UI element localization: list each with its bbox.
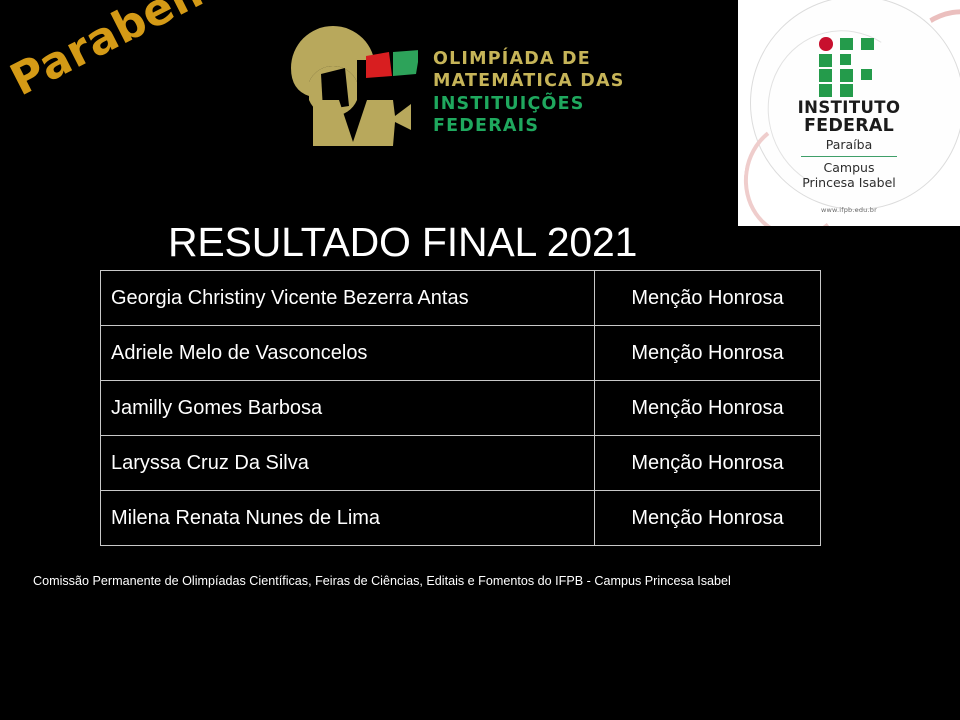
footer-committee-text: Comissão Permanente de Olimpíadas Cientí… (33, 574, 731, 588)
participant-name: Adriele Melo de Vasconcelos (101, 326, 595, 381)
results-table-body: Georgia Christiny Vicente Bezerra Antas … (101, 271, 821, 546)
omif-logo: OLIMPÍADA DE MATEMÁTICA DAS INSTITUIÇÕES… (283, 18, 683, 148)
ifpb-instituto-label: INSTITUTO (738, 100, 960, 117)
ifpb-federal-label: FEDERAL (738, 117, 960, 135)
table-row: Georgia Christiny Vicente Bezerra Antas … (101, 271, 821, 326)
participant-award: Menção Honrosa (595, 271, 821, 326)
omif-logo-mark (283, 24, 418, 149)
ifpb-logo-typography: INSTITUTO FEDERAL Paraíba Campus Princes… (738, 100, 960, 214)
participant-award: Menção Honrosa (595, 326, 821, 381)
omif-line-3: INSTITUIÇÕES FEDERAIS (433, 93, 683, 138)
omif-line-2: MATEMÁTICA DAS (433, 70, 683, 92)
ifpb-state-label: Paraíba (738, 137, 960, 152)
participant-name: Milena Renata Nunes de Lima (101, 491, 595, 546)
table-row: Adriele Melo de Vasconcelos Menção Honro… (101, 326, 821, 381)
ifpb-if-mark-icon (819, 37, 877, 96)
omif-line-1: OLIMPÍADA DE (433, 48, 683, 70)
participant-name: Jamilly Gomes Barbosa (101, 381, 595, 436)
ifpb-website-url: www.ifpb.edu.br (738, 206, 960, 214)
presentation-slide: Parabéns!!! OLIMPÍADA DE MATEMÁTICA DAS … (0, 0, 960, 720)
participant-name: Georgia Christiny Vicente Bezerra Antas (101, 271, 595, 326)
ifpb-divider (801, 156, 897, 157)
ifpb-logo: INSTITUTO FEDERAL Paraíba Campus Princes… (738, 0, 960, 226)
participant-award: Menção Honrosa (595, 381, 821, 436)
table-row: Jamilly Gomes Barbosa Menção Honrosa (101, 381, 821, 436)
participant-award: Menção Honrosa (595, 491, 821, 546)
table-row: Milena Renata Nunes de Lima Menção Honro… (101, 491, 821, 546)
participant-name: Laryssa Cruz Da Silva (101, 436, 595, 491)
ifpb-campus-label: Campus (738, 161, 960, 176)
omif-logo-text: OLIMPÍADA DE MATEMÁTICA DAS INSTITUIÇÕES… (433, 48, 683, 138)
ifpb-campus-name: Princesa Isabel (738, 176, 960, 191)
congratulations-banner: Parabéns!!! (2, 0, 284, 106)
page-title: RESULTADO FINAL 2021 (168, 219, 637, 266)
table-row: Laryssa Cruz Da Silva Menção Honrosa (101, 436, 821, 491)
results-table: Georgia Christiny Vicente Bezerra Antas … (100, 270, 821, 546)
participant-award: Menção Honrosa (595, 436, 821, 491)
